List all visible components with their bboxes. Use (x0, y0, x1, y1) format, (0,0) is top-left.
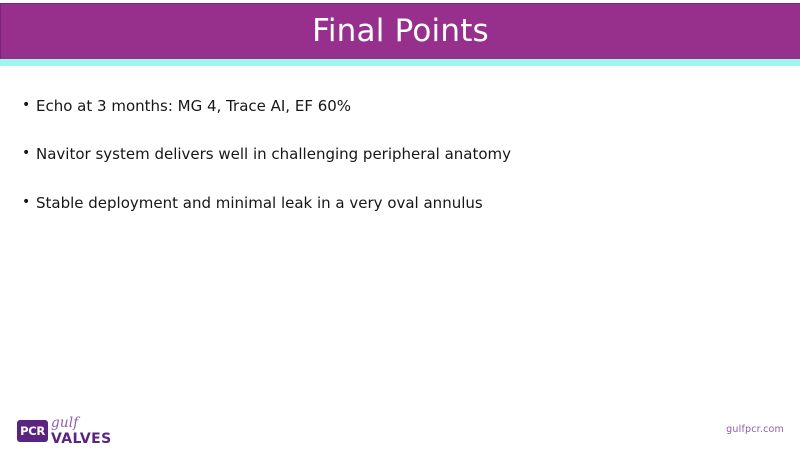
bullet-list: • Echo at 3 months: MG 4, Trace AI, EF 6… (22, 96, 762, 241)
site-url-label: gulfpcr.com (726, 424, 784, 435)
list-item: • Echo at 3 months: MG 4, Trace AI, EF 6… (22, 96, 762, 116)
list-item: • Stable deployment and minimal leak in … (22, 193, 762, 213)
list-item: • Navitor system delivers well in challe… (22, 144, 762, 164)
slide-canvas: Final Points • Echo at 3 months: MG 4, T… (0, 0, 800, 450)
logo-wordmark: gulf VALVES (51, 417, 112, 446)
list-item-label: Navitor system delivers well in challeng… (36, 144, 762, 164)
list-item-label: Stable deployment and minimal leak in a … (36, 193, 762, 213)
logo-word-gulf: gulf (51, 417, 112, 431)
pcr-badge-icon: PCR (17, 420, 48, 442)
bullet-point-icon: • (22, 144, 36, 163)
list-item-label: Echo at 3 months: MG 4, Trace AI, EF 60% (36, 96, 762, 116)
bullet-point-icon: • (22, 96, 36, 115)
logo-word-valves: VALVES (51, 432, 112, 446)
bullet-point-icon: • (22, 193, 36, 212)
accent-stripe (0, 59, 800, 66)
gulf-valves-logo: PCR gulf VALVES (17, 417, 112, 446)
page-title: Final Points (312, 16, 489, 47)
slide-title-band: Final Points (0, 3, 800, 59)
